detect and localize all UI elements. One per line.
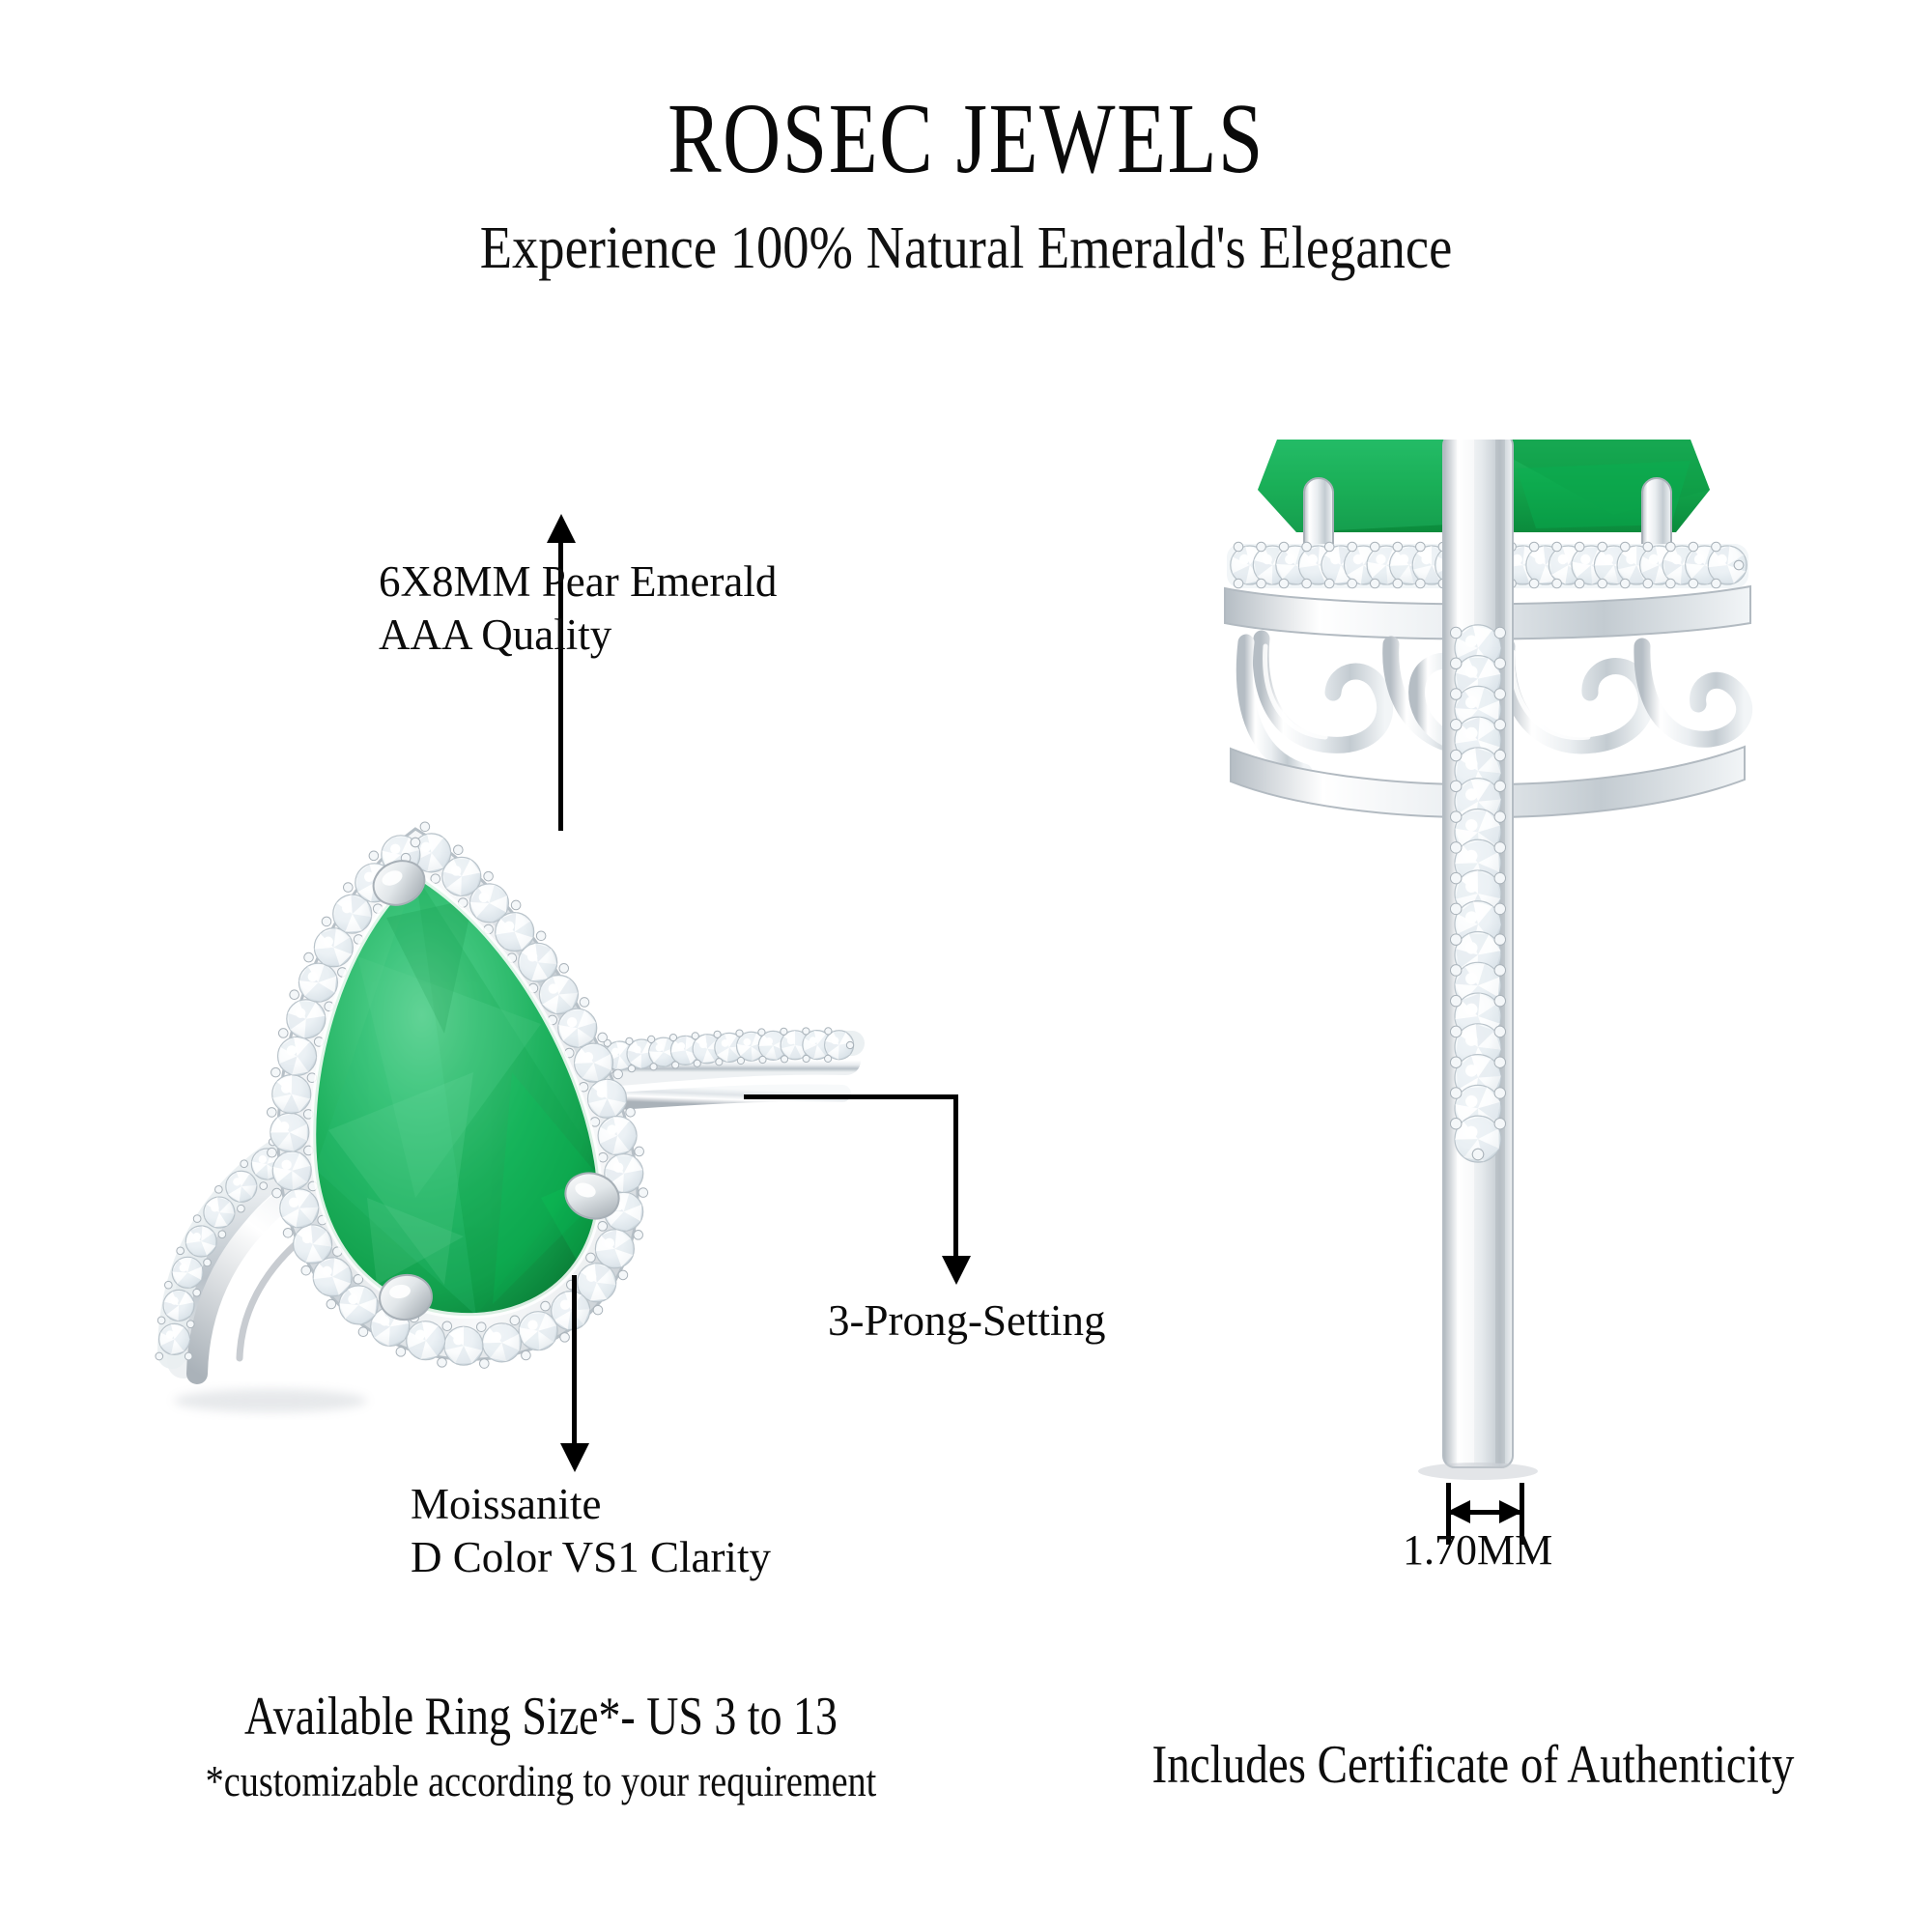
pave-bead	[304, 952, 314, 962]
pave-bead	[476, 1322, 486, 1332]
brand-tagline: Experience 100% Natural Emerald's Elegan…	[116, 214, 1816, 283]
dimension-arrowhead-left	[1447, 1500, 1470, 1523]
pave-bead	[560, 1333, 570, 1343]
pave-stone	[298, 963, 337, 1002]
leader-line-prong-vertical	[953, 1094, 958, 1261]
pave-stone	[204, 1197, 235, 1228]
pave-bead	[241, 1160, 248, 1168]
leader-arrowhead-gemstone	[547, 514, 576, 543]
pave-bead	[369, 851, 379, 861]
pave-bead	[598, 1222, 608, 1232]
pave-bead	[1234, 542, 1243, 552]
pave-bead	[1620, 579, 1630, 588]
pave-bead	[1712, 579, 1721, 588]
pave-bead	[156, 1352, 163, 1360]
pave-bead	[290, 990, 299, 1000]
pave-bead	[1450, 781, 1462, 792]
pave-bead	[1302, 542, 1312, 552]
pave-bead	[1472, 1149, 1484, 1160]
pave-bead	[1393, 579, 1403, 588]
annotation-gemstone-line1: 6X8MM Pear Emerald	[379, 557, 777, 606]
pave-bead	[1494, 781, 1506, 792]
pave-bead	[1643, 579, 1653, 588]
pave-bead	[648, 1036, 655, 1042]
pave-bead	[541, 1301, 551, 1311]
pave-bead	[635, 1147, 644, 1156]
pave-bead	[1450, 1057, 1462, 1068]
annotation-gemstone: 6X8MM Pear Emerald AAA Quality	[379, 555, 777, 662]
pave-bead	[737, 1057, 744, 1064]
pave-bead	[716, 1059, 723, 1065]
pave-bead	[396, 1348, 406, 1357]
leader-arrowhead-moissanite	[560, 1443, 589, 1472]
pave-bead	[1494, 965, 1506, 977]
pave-stone	[287, 1000, 326, 1038]
pave-stone	[172, 1257, 203, 1288]
pave-bead	[438, 1358, 447, 1368]
pave-bead	[1279, 542, 1289, 552]
annotation-moissanite-line1: Moissanite	[411, 1480, 602, 1528]
pave-bead	[1324, 579, 1334, 588]
pave-bead	[1494, 934, 1506, 946]
pave-bead	[1494, 1088, 1506, 1099]
pave-bead	[322, 917, 331, 926]
pave-stone	[598, 1117, 637, 1155]
pave-bead	[1257, 542, 1266, 552]
pave-bead	[1450, 842, 1462, 854]
pave-bead	[1279, 579, 1289, 588]
pave-bead	[1450, 965, 1462, 977]
pave-bead	[1393, 542, 1403, 552]
annotation-moissanite: Moissanite D Color VS1 Clarity	[411, 1478, 771, 1584]
pave-bead	[781, 1056, 787, 1063]
pave-stone	[185, 1226, 216, 1257]
pave-stone	[314, 928, 353, 967]
pave-bead	[271, 1067, 281, 1077]
infographic-page: ROSEC JEWELS Experience 100% Natural Eme…	[0, 0, 1932, 1932]
pave-bead	[1494, 811, 1506, 823]
pave-bead	[1689, 542, 1698, 552]
pave-bead	[825, 1055, 832, 1062]
pave-bead	[1575, 542, 1584, 552]
pave-bead	[301, 1265, 311, 1275]
pave-stone	[270, 1113, 309, 1151]
pave-bead	[1529, 542, 1539, 552]
pave-bead	[358, 1327, 368, 1337]
pave-stone	[226, 1171, 257, 1202]
pave-bead	[204, 1259, 212, 1266]
leader-line-prong-horizontal	[744, 1094, 958, 1099]
pave-bead	[1257, 579, 1266, 588]
leader-line-moissanite	[572, 1275, 577, 1449]
pave-bead	[613, 1069, 623, 1079]
pave-stone	[294, 1225, 332, 1264]
pave-bead	[1598, 579, 1607, 588]
pave-bead	[1450, 750, 1462, 761]
pave-bead	[626, 1037, 633, 1044]
pave-bead	[1450, 811, 1462, 823]
pave-bead	[1552, 579, 1562, 588]
pave-bead	[479, 1359, 489, 1369]
pave-bead	[193, 1289, 201, 1296]
pave-bead	[1494, 903, 1506, 915]
pave-bead	[536, 931, 546, 941]
pave-bead	[1370, 579, 1379, 588]
pave-bead	[260, 1182, 268, 1190]
pave-bead	[164, 1281, 172, 1289]
pave-bead	[278, 1029, 288, 1038]
pave-bead	[1416, 579, 1426, 588]
pave-bead	[1450, 627, 1462, 639]
pave-stone	[159, 1323, 190, 1354]
pave-bead	[484, 871, 494, 881]
pave-stone	[575, 1043, 613, 1082]
pave-bead	[454, 845, 464, 855]
footer-certificate: Includes Certificate of Authenticity	[1095, 1734, 1850, 1796]
pave-bead	[185, 1352, 192, 1360]
pave-bead	[846, 1041, 853, 1048]
ring-side-profile-view	[1188, 440, 1787, 1521]
pave-bead	[1494, 720, 1506, 731]
annotation-band-width: 1.70MM	[1403, 1524, 1552, 1577]
pave-bead	[639, 1188, 648, 1198]
pave-bead	[272, 1188, 282, 1198]
pave-bead	[1450, 720, 1462, 731]
pave-bead	[193, 1215, 201, 1223]
pave-bead	[1494, 658, 1506, 669]
pave-bead	[522, 1350, 531, 1360]
pave-bead	[1450, 1118, 1462, 1129]
pave-bead	[1450, 1026, 1462, 1037]
pave-stone	[272, 1151, 311, 1190]
pave-bead	[1416, 542, 1426, 552]
pave-stone	[272, 1075, 311, 1114]
pave-band-profile	[1450, 625, 1505, 1162]
dimension-arrowhead-right	[1499, 1500, 1522, 1523]
pave-bead	[186, 1321, 194, 1328]
pave-bead	[1494, 842, 1506, 854]
pave-bead	[714, 1031, 721, 1037]
pave-bead	[420, 822, 430, 832]
annotation-gemstone-line2: AAA Quality	[379, 611, 611, 659]
pave-bead	[580, 998, 589, 1008]
pave-bead	[1494, 995, 1506, 1007]
pave-stone	[558, 1009, 597, 1047]
pave-bead	[1450, 903, 1462, 915]
pave-bead	[1712, 542, 1721, 552]
pave-bead	[672, 1062, 679, 1068]
pave-bead	[1450, 872, 1462, 884]
pave-bead	[411, 838, 420, 847]
pave-bead	[1494, 1057, 1506, 1068]
pave-bead	[1494, 1026, 1506, 1037]
pave-stone	[595, 1230, 634, 1268]
pave-bead	[268, 1148, 277, 1157]
pave-bead	[618, 1270, 628, 1280]
pave-bead	[1575, 579, 1584, 588]
pave-stone	[519, 1312, 557, 1350]
pave-bead	[803, 1055, 810, 1062]
pave-bead	[218, 1231, 226, 1238]
pave-bead	[1494, 689, 1506, 700]
pave-bead	[694, 1060, 700, 1066]
pave-bead	[1620, 542, 1630, 552]
pave-bead	[1689, 579, 1698, 588]
pave-bead	[283, 1228, 293, 1237]
pave-bead	[1324, 542, 1334, 552]
pave-bead	[758, 1029, 765, 1036]
pave-bead	[215, 1186, 223, 1194]
pave-bead	[586, 1253, 596, 1263]
pave-bead	[825, 1028, 832, 1035]
pave-stone	[278, 1037, 317, 1075]
pave-stone	[539, 976, 578, 1014]
pave-bead	[1494, 627, 1506, 639]
pave-bead	[559, 964, 569, 974]
pave-bead	[736, 1030, 743, 1037]
pave-bead	[1734, 560, 1744, 570]
annotation-moissanite-line2: D Color VS1 Clarity	[411, 1533, 771, 1581]
pave-bead	[759, 1056, 766, 1063]
footer-ring-size-note: *customizable according to your requirem…	[180, 1753, 902, 1810]
pave-bead	[1370, 542, 1379, 552]
leader-arrowhead-prong	[942, 1256, 971, 1285]
pave-stone	[519, 943, 557, 981]
pave-bead	[1450, 1088, 1462, 1099]
pave-stone	[444, 1326, 483, 1365]
pave-bead	[781, 1028, 787, 1035]
pave-stone	[407, 1321, 445, 1360]
pave-bead	[177, 1247, 185, 1255]
footer-ring-size: Available Ring Size*- US 3 to 13	[192, 1686, 890, 1747]
pave-bead	[510, 1316, 520, 1325]
pave-bead	[157, 1317, 165, 1324]
pave-bead	[1494, 1118, 1506, 1129]
pave-bead	[511, 900, 521, 910]
pave-bead	[1494, 872, 1506, 884]
pave-bead	[803, 1028, 810, 1035]
pave-bead	[1529, 579, 1539, 588]
pave-bead	[634, 1231, 643, 1240]
pave-bead	[1450, 934, 1462, 946]
pave-bead	[1552, 542, 1562, 552]
pave-stone	[313, 1258, 352, 1296]
pave-bead	[626, 1107, 636, 1117]
pave-bead	[593, 1305, 603, 1315]
brand-title: ROSEC JEWELS	[193, 89, 1739, 189]
pave-bead	[1450, 689, 1462, 700]
pave-bead	[1348, 542, 1357, 552]
pave-bead	[669, 1034, 676, 1040]
pave-bead	[650, 1064, 657, 1070]
pave-bead	[442, 1321, 452, 1331]
pave-bead	[327, 1299, 336, 1309]
pave-bead	[1234, 579, 1243, 588]
ring-front-view	[126, 782, 918, 1430]
pave-bead	[1302, 579, 1312, 588]
pave-bead	[692, 1033, 698, 1039]
footer-ring-size-block: Available Ring Size*- US 3 to 13 *custom…	[116, 1686, 966, 1810]
pave-bead	[1643, 542, 1653, 552]
pave-bead	[238, 1205, 245, 1212]
annotation-prong-setting: 3-Prong-Setting	[828, 1294, 1106, 1348]
pave-bead	[1450, 995, 1462, 1007]
pave-bead	[1450, 658, 1462, 669]
pave-bead	[267, 1108, 276, 1118]
pave-bead	[628, 1065, 635, 1072]
pave-stone	[280, 1189, 319, 1228]
pave-stone	[552, 1292, 590, 1330]
pave-stone	[587, 1079, 626, 1118]
pave-stone	[482, 1323, 521, 1362]
pave-bead	[1348, 579, 1357, 588]
pave-stone	[163, 1290, 194, 1321]
pave-bead	[1598, 542, 1607, 552]
pave-bead	[1666, 579, 1676, 588]
pave-bead	[598, 1033, 608, 1042]
pave-bead	[1494, 750, 1506, 761]
pave-bead	[1666, 542, 1676, 552]
pave-bead	[344, 883, 354, 893]
